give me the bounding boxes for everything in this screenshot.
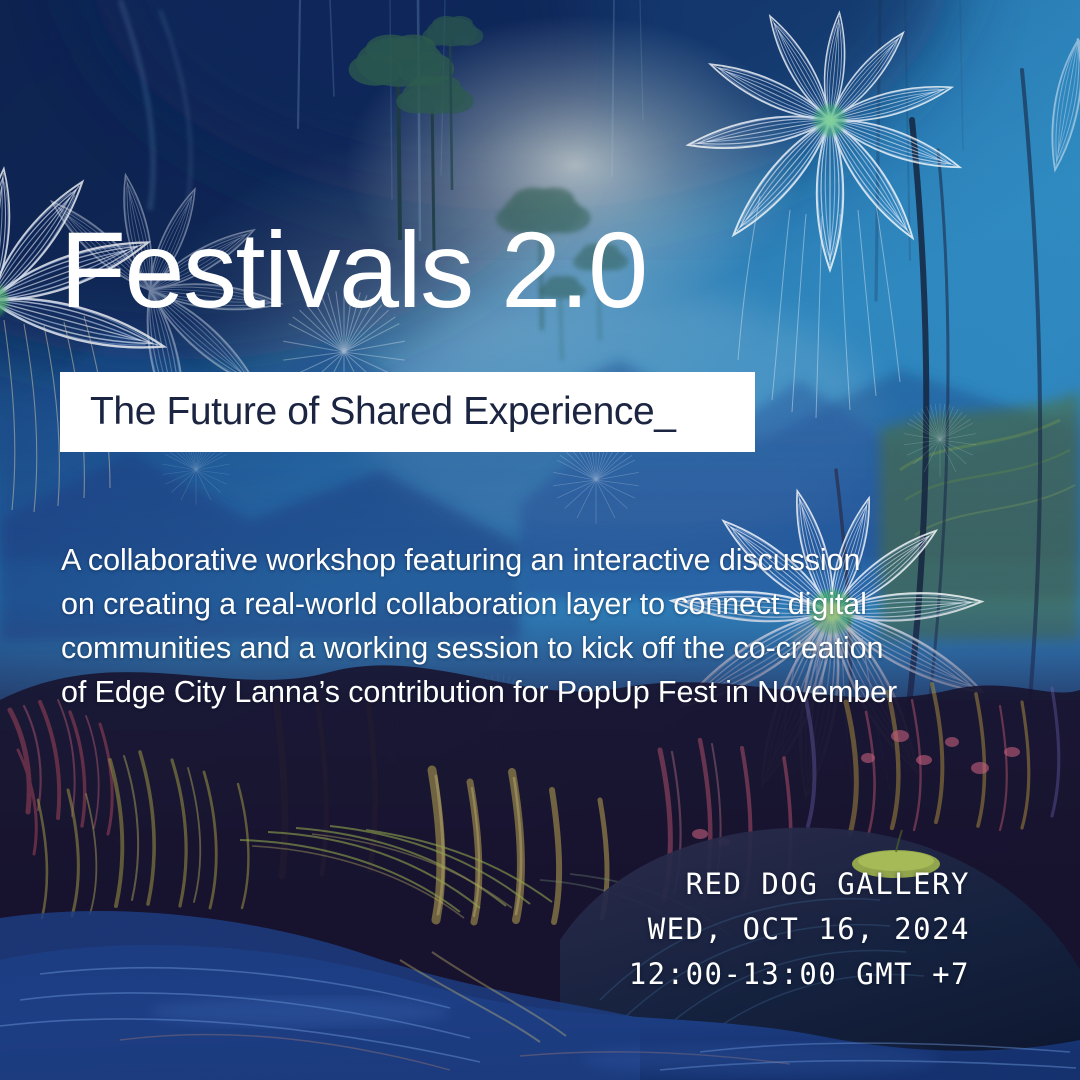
event-details: RED DOG GALLERY WED, OCT 16, 2024 12:00-… [629, 862, 970, 997]
subtitle-banner: The Future of Shared Experience_ [60, 372, 755, 452]
event-description: A collaborative workshop featuring an in… [61, 538, 961, 714]
venue-text: RED DOG GALLERY [629, 862, 970, 907]
time-text: 12:00-13:00 GMT +7 [629, 952, 970, 997]
subtitle-text: The Future of Shared Experience_ [90, 390, 676, 434]
event-poster: Festivals 2.0 The Future of Shared Exper… [0, 0, 1080, 1080]
description-line: of Edge City Lanna’s contribution for Po… [61, 670, 961, 714]
page-title: Festivals 2.0 [60, 216, 647, 324]
description-line: on creating a real-world collaboration l… [61, 582, 961, 626]
description-line: communities and a working session to kic… [61, 626, 961, 670]
description-line: A collaborative workshop featuring an in… [61, 538, 961, 582]
date-text: WED, OCT 16, 2024 [629, 907, 970, 952]
